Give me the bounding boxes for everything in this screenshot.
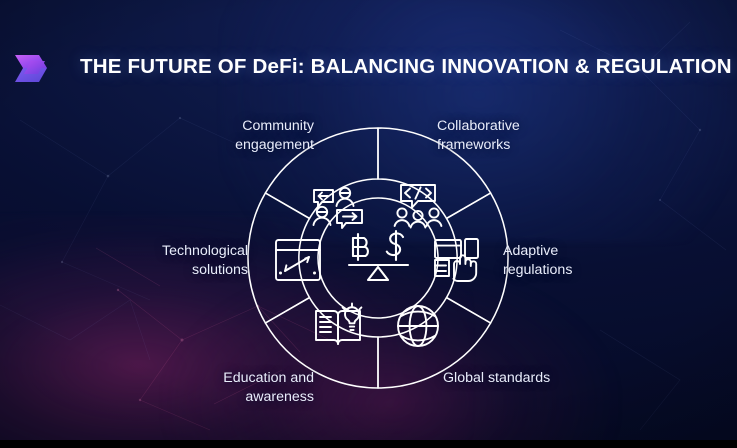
segment-label-technological-solutions: Technological solutions [88, 242, 248, 279]
code-bubble-group-icon [395, 185, 442, 228]
segment-label-global-standards: Global standards [443, 369, 643, 388]
balance-scale-icon [349, 231, 408, 280]
label-line-2: frameworks [437, 136, 627, 155]
segment-label-collaborative-frameworks: Collaborative frameworks [437, 117, 627, 154]
book-lightbulb-icon [316, 304, 361, 345]
speech-bubbles-people-icon [314, 188, 363, 228]
label-line-2: engagement [128, 136, 314, 155]
label-line-1: Community [128, 117, 314, 136]
globe-icon [398, 306, 438, 346]
segment-label-education-awareness: Education and awareness [122, 369, 314, 406]
label-line-2: solutions [88, 261, 248, 280]
label-line-1: Adaptive [503, 242, 673, 261]
segment-technological-solutions-shape[interactable] [248, 193, 310, 323]
browser-chart-icon [276, 240, 320, 280]
label-line-2: awareness [122, 388, 314, 407]
segment-label-adaptive-regulations: Adaptive regulations [503, 242, 673, 279]
label-line-1: Education and [122, 369, 314, 388]
label-line-1: Technological [88, 242, 248, 261]
bottom-letterbox-bar [0, 440, 737, 448]
segment-label-community-engagement: Community engagement [128, 117, 314, 154]
label-line-1: Global standards [443, 369, 643, 388]
chevron-logo-icon[interactable] [9, 47, 55, 91]
label-line-2: regulations [503, 261, 673, 280]
center-circle [318, 198, 438, 318]
slide-canvas: THE FUTURE OF DeFi: BALANCING INNOVATION… [0, 0, 737, 448]
page-title: THE FUTURE OF DeFi: BALANCING INNOVATION… [80, 54, 710, 80]
label-line-1: Collaborative [437, 117, 627, 136]
